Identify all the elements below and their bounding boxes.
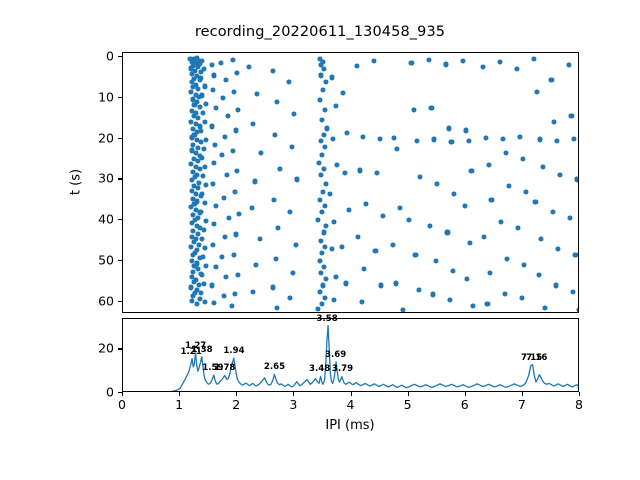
scatter-point — [483, 135, 488, 140]
scatter-point — [220, 95, 225, 100]
scatter-point — [224, 173, 229, 178]
scatter-point — [557, 173, 562, 178]
scatter-point — [363, 201, 368, 206]
scatter-point — [270, 69, 275, 74]
x-tick-label: 6 — [461, 397, 469, 412]
scatter-point — [567, 216, 572, 221]
y-tick-mark — [118, 260, 122, 261]
scatter-point — [211, 87, 216, 92]
scatter-point — [443, 62, 448, 67]
scatter-point — [334, 275, 339, 280]
x-tick-label: 4 — [347, 397, 355, 412]
scatter-point — [287, 210, 292, 215]
scatter-point — [328, 191, 333, 196]
scatter-point — [462, 203, 467, 208]
y-tick-mark — [118, 219, 122, 220]
scatter-point — [322, 108, 327, 113]
scatter-point — [359, 299, 364, 304]
scatter-point — [188, 285, 193, 290]
scatter-point — [202, 67, 207, 72]
scatter-point — [315, 307, 320, 312]
scatter-point — [199, 59, 204, 64]
scatter-point — [394, 281, 399, 286]
scatter-point — [203, 138, 208, 143]
scatter-point — [250, 289, 255, 294]
page-title: recording_20220611_130458_935 — [0, 24, 640, 40]
scatter-point — [212, 73, 217, 78]
scatter-point — [200, 192, 205, 197]
scatter-point — [523, 189, 528, 194]
scatter-point — [323, 224, 328, 229]
scatter-point — [468, 240, 473, 245]
y-tick-label: 60 — [86, 293, 114, 308]
scatter-point — [346, 207, 351, 212]
scatter-point — [319, 173, 324, 178]
scatter-point — [272, 132, 277, 137]
scatter-point — [503, 150, 508, 155]
scatter-point — [533, 199, 538, 204]
scatter-point — [342, 171, 347, 176]
scatter-point — [202, 299, 207, 304]
scatter-point — [199, 75, 204, 80]
scatter-point — [452, 191, 457, 196]
scatter-point — [573, 252, 578, 257]
scatter-point — [194, 301, 199, 306]
y-tick-label: 0 — [86, 49, 114, 64]
scatter-point — [204, 183, 209, 188]
peak-annotation: 2.65 — [264, 363, 285, 372]
scatter-point — [489, 197, 494, 202]
scatter-point — [234, 71, 239, 76]
scatter-point — [343, 281, 348, 286]
scatter-point — [316, 161, 321, 166]
scatter-point — [532, 56, 537, 61]
peak-annotation: 3.58 — [316, 315, 337, 324]
scatter-point — [210, 124, 215, 129]
scatter-point — [199, 236, 204, 241]
scatter-point — [273, 256, 278, 261]
scatter-point — [232, 89, 237, 94]
scatter-point — [211, 300, 216, 305]
scatter-point — [355, 64, 360, 69]
scatter-point — [225, 114, 230, 119]
scatter-point — [319, 301, 324, 306]
scatter-point — [380, 214, 385, 219]
scatter-point — [277, 167, 282, 172]
peak-annotation: 3.79 — [332, 365, 353, 374]
x-tick-mark — [465, 392, 466, 396]
scatter-point — [200, 93, 205, 98]
scatter-point — [231, 252, 236, 257]
scatter-point — [195, 87, 200, 92]
scatter-point — [329, 75, 334, 80]
scatter-point — [571, 289, 576, 294]
scatter-point — [317, 97, 322, 102]
scatter-point — [200, 254, 205, 259]
scatter-point — [246, 65, 251, 70]
y-tick-label: 50 — [86, 252, 114, 267]
scatter-point — [322, 67, 327, 72]
scatter-point — [210, 283, 215, 288]
scatter-point — [271, 285, 276, 290]
scatter-point — [219, 254, 224, 259]
scatter-point — [232, 189, 237, 194]
scatter-point — [339, 244, 344, 249]
scatter-point — [204, 102, 209, 107]
x-tick-label: 3 — [289, 397, 297, 412]
scatter-point — [320, 283, 325, 288]
scatter-point — [481, 234, 486, 239]
y-tick-mark — [118, 301, 122, 302]
y-tick-mark — [118, 178, 122, 179]
scatter-point — [323, 144, 328, 149]
peak-annotation: 7.16 — [526, 354, 547, 363]
scatter-point — [249, 205, 254, 210]
scatter-point — [203, 218, 208, 223]
scatter-point — [535, 89, 540, 94]
scatter-point — [292, 112, 297, 117]
scatter-point — [233, 128, 238, 133]
scatter-point — [209, 63, 214, 68]
scatter-point — [235, 273, 240, 278]
scatter-point — [446, 126, 451, 131]
scatter-point — [429, 106, 434, 111]
scatter-point — [485, 301, 490, 306]
scatter-point — [332, 220, 337, 225]
scatter-point — [212, 222, 217, 227]
scatter-point — [195, 185, 200, 190]
scatter-point — [469, 169, 474, 174]
scatter-point — [433, 258, 438, 263]
scatter-point — [412, 108, 417, 113]
scatter-point — [460, 58, 465, 63]
scatter-point — [202, 281, 207, 286]
scatter-point — [236, 212, 241, 217]
y-tick-mark — [118, 56, 122, 57]
scatter-point — [223, 234, 228, 239]
scatter-point — [575, 177, 579, 182]
scatter-point — [486, 163, 491, 168]
scatter-point — [319, 210, 324, 215]
scatter-point — [400, 307, 405, 312]
scatter-point — [372, 59, 377, 64]
scatter-point — [290, 271, 295, 276]
scatter-point — [398, 205, 403, 210]
x-tick-label: 0 — [118, 397, 126, 412]
scatter-point — [318, 73, 323, 78]
scatter-point — [537, 137, 542, 142]
scatter-point — [236, 108, 241, 113]
scatter-point — [188, 245, 193, 250]
scatter-point — [556, 246, 561, 251]
scatter-point — [464, 277, 469, 282]
scatter-point — [356, 234, 361, 239]
scatter-point — [413, 252, 418, 257]
y-tick-mark — [118, 97, 122, 98]
scatter-point — [451, 269, 456, 274]
scatter-point — [344, 130, 349, 135]
x-tick-mark — [236, 392, 237, 396]
x-tick-label: 7 — [518, 397, 526, 412]
scatter-point — [318, 289, 323, 294]
scatter-point — [409, 61, 414, 66]
scatter-point — [223, 77, 228, 82]
scatter-point — [390, 242, 395, 247]
scatter-point — [331, 136, 336, 141]
scatter-point — [322, 265, 327, 270]
peak-annotation: 1.38 — [191, 346, 212, 355]
scatter-point — [202, 120, 207, 125]
scatter-point — [435, 181, 440, 186]
scatter-point — [220, 152, 225, 157]
scatter-point — [379, 283, 384, 288]
scatter-point — [200, 272, 205, 277]
scatter-point — [201, 147, 206, 152]
scatter-point — [259, 150, 264, 155]
scatter-point — [319, 118, 324, 123]
scatter-point — [252, 179, 257, 184]
scatter-point — [320, 152, 325, 157]
y-tick-mark — [118, 138, 122, 139]
scatter-point — [286, 79, 291, 84]
scatter-point — [219, 61, 224, 66]
scatter-point — [555, 138, 560, 143]
scatter-point — [487, 271, 492, 276]
scatter-point — [416, 287, 421, 292]
scatter-point — [504, 256, 509, 261]
scatter-point — [200, 174, 205, 179]
scatter-point — [517, 134, 522, 139]
x-tick-label: 5 — [404, 397, 412, 412]
scatter-point — [373, 248, 378, 253]
scatter-point — [289, 144, 294, 149]
scatter-point — [418, 175, 423, 180]
scatter-point — [229, 303, 234, 308]
matplotlib-figure: recording_20220611_130458_935 t (s) 0102… — [0, 0, 640, 480]
scatter-point — [198, 105, 203, 110]
scatter-point — [323, 244, 328, 249]
scatter-point — [232, 291, 237, 296]
scatter-point — [502, 291, 507, 296]
scatter-point — [542, 305, 547, 310]
scatter-point — [201, 227, 206, 232]
scatter-point — [480, 65, 485, 70]
scatter-point — [226, 216, 231, 221]
scatter-point — [536, 273, 541, 278]
x-tick-label: 8 — [575, 397, 583, 412]
scatter-point — [293, 242, 298, 247]
scatter-point — [295, 177, 300, 182]
scatter-point — [224, 275, 229, 280]
scatter-point — [221, 293, 226, 298]
scatter-point — [196, 116, 201, 121]
scatter-point — [324, 277, 329, 282]
x-tick-mark — [522, 392, 523, 396]
scatter-point — [271, 197, 276, 202]
scatter-point — [214, 203, 219, 208]
x-tick-mark — [351, 392, 352, 396]
scatter-point — [274, 305, 279, 310]
scatter-point — [497, 59, 502, 64]
scatter-point — [204, 263, 209, 268]
x-tick-label: 1 — [175, 397, 183, 412]
scatter-point — [322, 203, 327, 208]
scatter-point — [254, 263, 259, 268]
scatter-point — [506, 183, 511, 188]
scatter-point — [515, 67, 520, 72]
scatter-point — [466, 138, 471, 143]
scatter-point — [426, 57, 431, 62]
scatter-point — [323, 80, 328, 85]
y-tick-label: 10 — [86, 89, 114, 104]
scatter-plot-axes — [122, 52, 579, 313]
scatter-point — [324, 181, 329, 186]
x-tick-mark — [122, 392, 123, 396]
scatter-point — [322, 295, 327, 300]
scatter-point — [447, 297, 452, 302]
y-tick-label: 40 — [86, 212, 114, 227]
scatter-point — [516, 226, 521, 231]
x-axis-label: IPI (ms) — [325, 418, 374, 433]
x-tick-mark — [408, 392, 409, 396]
scatter-point — [340, 90, 345, 95]
scatter-point — [213, 265, 218, 270]
scatter-point — [196, 231, 201, 236]
scatter-point — [317, 258, 322, 263]
scatter-point — [428, 224, 433, 229]
scatter-point — [288, 295, 293, 300]
scatter-point — [406, 218, 411, 223]
scatter-point — [445, 230, 450, 235]
peak-annotation: 3.48 — [309, 365, 330, 374]
scatter-point — [395, 146, 400, 151]
scatter-point — [500, 136, 505, 141]
scatter-point — [321, 132, 326, 137]
scatter-point — [211, 242, 216, 247]
scatter-point — [320, 250, 325, 255]
scatter-point — [275, 99, 280, 104]
scatter-point — [552, 120, 557, 125]
scatter-point — [362, 267, 367, 272]
scatter-point — [318, 138, 323, 143]
x-tick-label: 2 — [232, 397, 240, 412]
scatter-point — [202, 201, 207, 206]
scatter-point — [324, 126, 329, 131]
scatter-point — [553, 283, 558, 288]
scatter-point — [258, 236, 263, 241]
scatter-point — [463, 128, 468, 133]
scatter-point — [234, 232, 239, 237]
scatter-point — [432, 137, 437, 142]
scatter-point — [540, 165, 545, 170]
hist-y-tick-label: 20 — [86, 341, 114, 356]
scatter-point — [211, 161, 216, 166]
scatter-point — [199, 156, 204, 161]
scatter-point — [430, 292, 435, 297]
scatter-point — [358, 168, 363, 173]
hist-y-tick-mark — [118, 348, 122, 349]
scatter-point — [212, 142, 217, 147]
scatter-point — [251, 122, 256, 127]
scatter-point — [199, 210, 204, 215]
x-tick-mark — [579, 392, 580, 396]
scatter-point — [203, 84, 208, 89]
scatter-point — [318, 238, 323, 243]
scatter-point — [316, 218, 321, 223]
scatter-point — [192, 103, 197, 108]
scatter-point — [520, 156, 525, 161]
scatter-point — [539, 236, 544, 241]
x-tick-mark — [179, 392, 180, 396]
scatter-point — [213, 106, 218, 111]
scatter-point — [572, 136, 577, 141]
scatter-point — [470, 303, 475, 308]
scatter-point — [519, 295, 524, 300]
scatter-point — [320, 189, 325, 194]
scatter-point — [319, 271, 324, 276]
scatter-point — [576, 307, 579, 312]
scatter-point — [199, 129, 204, 134]
peak-annotation: 1.94 — [223, 347, 244, 356]
scatter-point — [203, 245, 208, 250]
scatter-point — [210, 181, 215, 186]
scatter-point — [320, 87, 325, 92]
scatter-point — [333, 103, 338, 108]
scatter-point — [499, 220, 504, 225]
scatter-point — [275, 226, 280, 231]
scatter-point — [222, 195, 227, 200]
scatter-point — [255, 91, 260, 96]
scatter-point — [360, 134, 365, 139]
scatter-point — [550, 210, 555, 215]
scatter-point — [569, 114, 574, 119]
scatter-point — [235, 169, 240, 174]
scatter-point — [392, 135, 397, 140]
scatter-point — [195, 145, 200, 150]
scatter-point — [321, 230, 326, 235]
scatter-point — [378, 136, 383, 141]
y-axis-label: t (s) — [69, 169, 84, 195]
y-tick-label: 20 — [86, 130, 114, 145]
scatter-point — [231, 58, 236, 63]
scatter-point — [521, 263, 526, 268]
peak-annotation: 3.69 — [325, 351, 346, 360]
peak-annotation: 1.78 — [214, 364, 235, 373]
scatter-point — [375, 171, 380, 176]
hist-y-tick-label: 0 — [86, 385, 114, 400]
scatter-point — [199, 290, 204, 295]
scatter-point — [335, 163, 340, 168]
scatter-point — [318, 197, 323, 202]
scatter-point — [322, 167, 327, 172]
scatter-point — [415, 138, 420, 143]
scatter-point — [331, 297, 336, 302]
scatter-point — [222, 134, 227, 139]
scatter-point — [566, 63, 571, 68]
histogram-polyline — [123, 326, 579, 392]
scatter-point — [549, 77, 554, 82]
scatter-point — [203, 165, 208, 170]
scatter-point — [330, 246, 335, 251]
scatter-point — [200, 111, 205, 116]
scatter-point — [230, 148, 235, 153]
x-tick-mark — [293, 392, 294, 396]
scatter-point — [449, 139, 454, 144]
y-tick-label: 30 — [86, 171, 114, 186]
